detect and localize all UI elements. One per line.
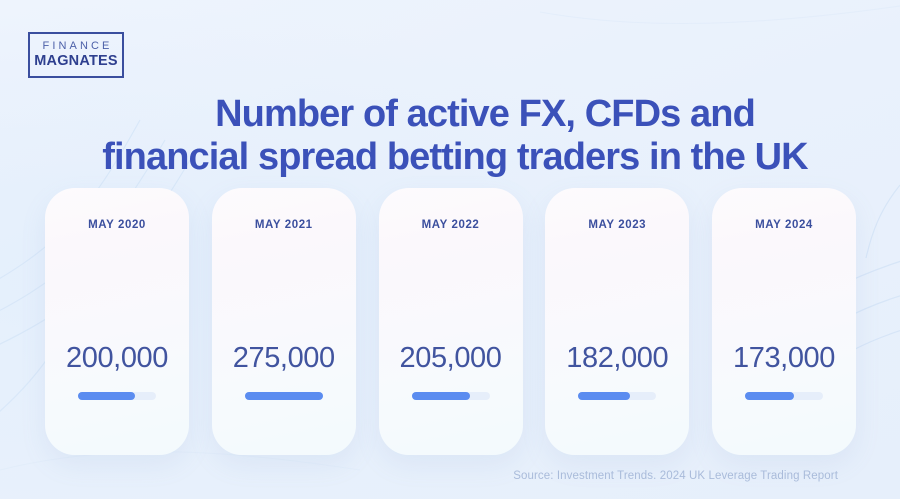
logo-word-magnates: MAGNATES (34, 53, 118, 70)
finance-magnates-logo[interactable]: FINANCE MAGNATES (28, 32, 124, 78)
source-attribution: Source: Investment Trends. 2024 UK Lever… (513, 470, 838, 482)
stat-card-progress-fill (745, 392, 794, 400)
stat-card: MAY 2020 200,000 (45, 188, 189, 455)
stat-card-progress-fill (412, 392, 471, 400)
stat-card-progress-fill (78, 392, 135, 400)
logo-word-finance: FINANCE (40, 40, 113, 53)
title-line-2: financial spread betting traders in the … (50, 136, 860, 179)
stat-card-progress-track (578, 392, 656, 400)
stat-card-progress-fill (245, 392, 323, 400)
stat-card-progress-track (245, 392, 323, 400)
page-title: Number of active FX, CFDs and financial … (50, 93, 860, 179)
stat-card: MAY 2022 205,000 (379, 188, 523, 455)
stat-card-value: 275,000 (212, 342, 356, 375)
stat-card: MAY 2023 182,000 (545, 188, 689, 455)
title-line-1: Number of active FX, CFDs and (50, 93, 860, 136)
stat-card-value: 182,000 (545, 342, 689, 375)
stat-card-period-label: MAY 2022 (422, 219, 480, 231)
infographic-canvas: FINANCE MAGNATES Number of active FX, CF… (0, 0, 900, 499)
stat-card: MAY 2024 173,000 (712, 188, 856, 455)
stat-card-progress-track (412, 392, 490, 400)
stat-card-period-label: MAY 2024 (755, 219, 813, 231)
stat-card-progress-track (78, 392, 156, 400)
stat-card-progress-track (745, 392, 823, 400)
stat-card: MAY 2021 275,000 (212, 188, 356, 455)
stat-card-progress-fill (578, 392, 629, 400)
stat-card-list: MAY 2020 200,000 MAY 2021 275,000 MAY 20… (45, 188, 856, 455)
stat-card-period-label: MAY 2023 (588, 219, 646, 231)
stat-card-period-label: MAY 2021 (255, 219, 313, 231)
stat-card-value: 173,000 (712, 342, 856, 375)
stat-card-value: 205,000 (379, 342, 523, 375)
stat-card-value: 200,000 (45, 342, 189, 375)
stat-card-period-label: MAY 2020 (88, 219, 146, 231)
